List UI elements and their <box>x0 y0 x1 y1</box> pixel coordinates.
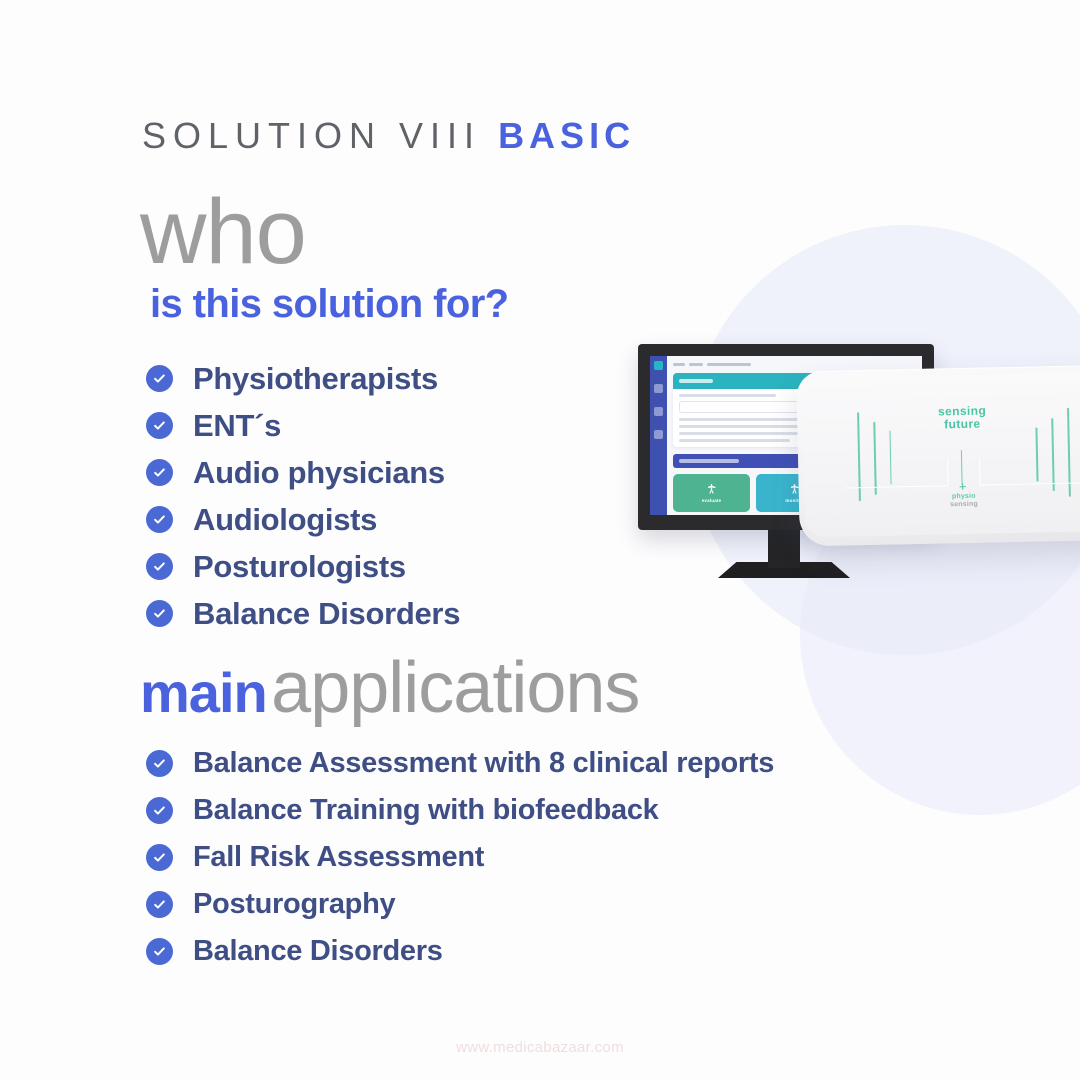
platform-brand: sensing future <box>803 402 1080 434</box>
card-title-placeholder <box>679 379 713 383</box>
who-word: who <box>140 186 306 278</box>
sidebar-icon-reports <box>654 407 663 416</box>
platform-line <box>1051 418 1054 491</box>
person-icon <box>791 484 799 494</box>
list-item-label: Posturologists <box>193 549 406 585</box>
product-image: evaluate monitor train <box>600 330 1080 610</box>
check-circle-icon <box>146 844 173 871</box>
sidebar-icon-settings <box>654 430 663 439</box>
check-circle-icon <box>146 459 173 486</box>
topbar-item <box>689 363 703 366</box>
software-topbar <box>673 360 916 368</box>
list-item: Posturography <box>146 881 774 928</box>
topbar-item <box>673 363 685 366</box>
sidebar-icon-patients <box>654 384 663 393</box>
list-item: Audiologists <box>146 496 460 543</box>
watermark-text: www.medicabazaar.com <box>0 1039 1080 1056</box>
check-circle-icon <box>146 938 173 965</box>
list-item-label: Audiologists <box>193 502 377 538</box>
kicker-bold-text: BASIC <box>498 115 635 156</box>
platform-guide-line <box>846 485 948 488</box>
balance-platform-device: + sensing future physio sensing <box>796 365 1080 547</box>
list-item: Balance Assessment with 8 clinical repor… <box>146 740 774 787</box>
platform-guide-line <box>947 460 949 485</box>
list-item-label: ENT´s <box>193 408 281 444</box>
card-text-row <box>679 394 776 397</box>
list-item-label: Balance Disorders <box>193 935 443 968</box>
check-circle-icon <box>146 891 173 918</box>
list-item-label: Balance Training with biofeedback <box>193 794 659 827</box>
platform-surface: + sensing future physio sensing <box>802 372 1080 538</box>
poster-canvas: SOLUTION VIII BASIC who is this solution… <box>0 0 1080 1080</box>
list-item: Audio physicians <box>146 449 460 496</box>
who-checklist: Physiotherapists ENT´s Audio physicians … <box>146 355 460 637</box>
list-item-label: Balance Assessment with 8 clinical repor… <box>193 747 774 780</box>
card-text-row <box>679 439 790 442</box>
check-circle-icon <box>146 600 173 627</box>
list-item-label: Posturography <box>193 888 395 921</box>
platform-line <box>873 421 876 494</box>
tile-label: evaluate <box>702 498 722 503</box>
topbar-item <box>707 363 751 366</box>
check-circle-icon <box>146 412 173 439</box>
applications-heading-light: applications <box>271 648 639 728</box>
list-item: Balance Disorders <box>146 928 774 975</box>
list-item-label: Fall Risk Assessment <box>193 841 484 874</box>
person-icon <box>708 484 716 494</box>
list-item: ENT´s <box>146 402 460 449</box>
list-item: Balance Training with biofeedback <box>146 787 774 834</box>
list-item: Physiotherapists <box>146 355 460 402</box>
list-item: Balance Disorders <box>146 590 460 637</box>
platform-line <box>889 431 892 485</box>
kicker-heading: SOLUTION VIII BASIC <box>142 118 635 154</box>
platform-line <box>1036 427 1039 481</box>
kicker-light-text: SOLUTION VIII <box>142 115 481 156</box>
tile-evaluate: evaluate <box>673 474 750 512</box>
applications-heading: main applications <box>140 652 639 724</box>
list-item: Posturologists <box>146 543 460 590</box>
check-circle-icon <box>146 506 173 533</box>
check-circle-icon <box>146 365 173 392</box>
list-item-label: Audio physicians <box>193 455 445 491</box>
monitor-neck <box>768 528 800 568</box>
check-circle-icon <box>146 750 173 777</box>
sidebar-icon-home <box>654 361 663 370</box>
applications-heading-bold: main <box>140 661 267 724</box>
software-sidebar <box>650 356 667 515</box>
platform-guide-line <box>979 482 1080 485</box>
list-item: Fall Risk Assessment <box>146 834 774 881</box>
applications-checklist: Balance Assessment with 8 clinical repor… <box>146 740 774 975</box>
check-circle-icon <box>146 797 173 824</box>
section-bar-label <box>679 459 739 463</box>
card-text-row <box>679 425 808 428</box>
platform-logo: physio sensing <box>805 490 1080 511</box>
check-circle-icon <box>146 553 173 580</box>
platform-guide-line <box>979 459 981 484</box>
platform-center-marker: + <box>959 480 967 493</box>
list-item-label: Balance Disorders <box>193 596 460 632</box>
who-subheading: is this solution for? <box>150 284 509 324</box>
list-item-label: Physiotherapists <box>193 361 438 397</box>
